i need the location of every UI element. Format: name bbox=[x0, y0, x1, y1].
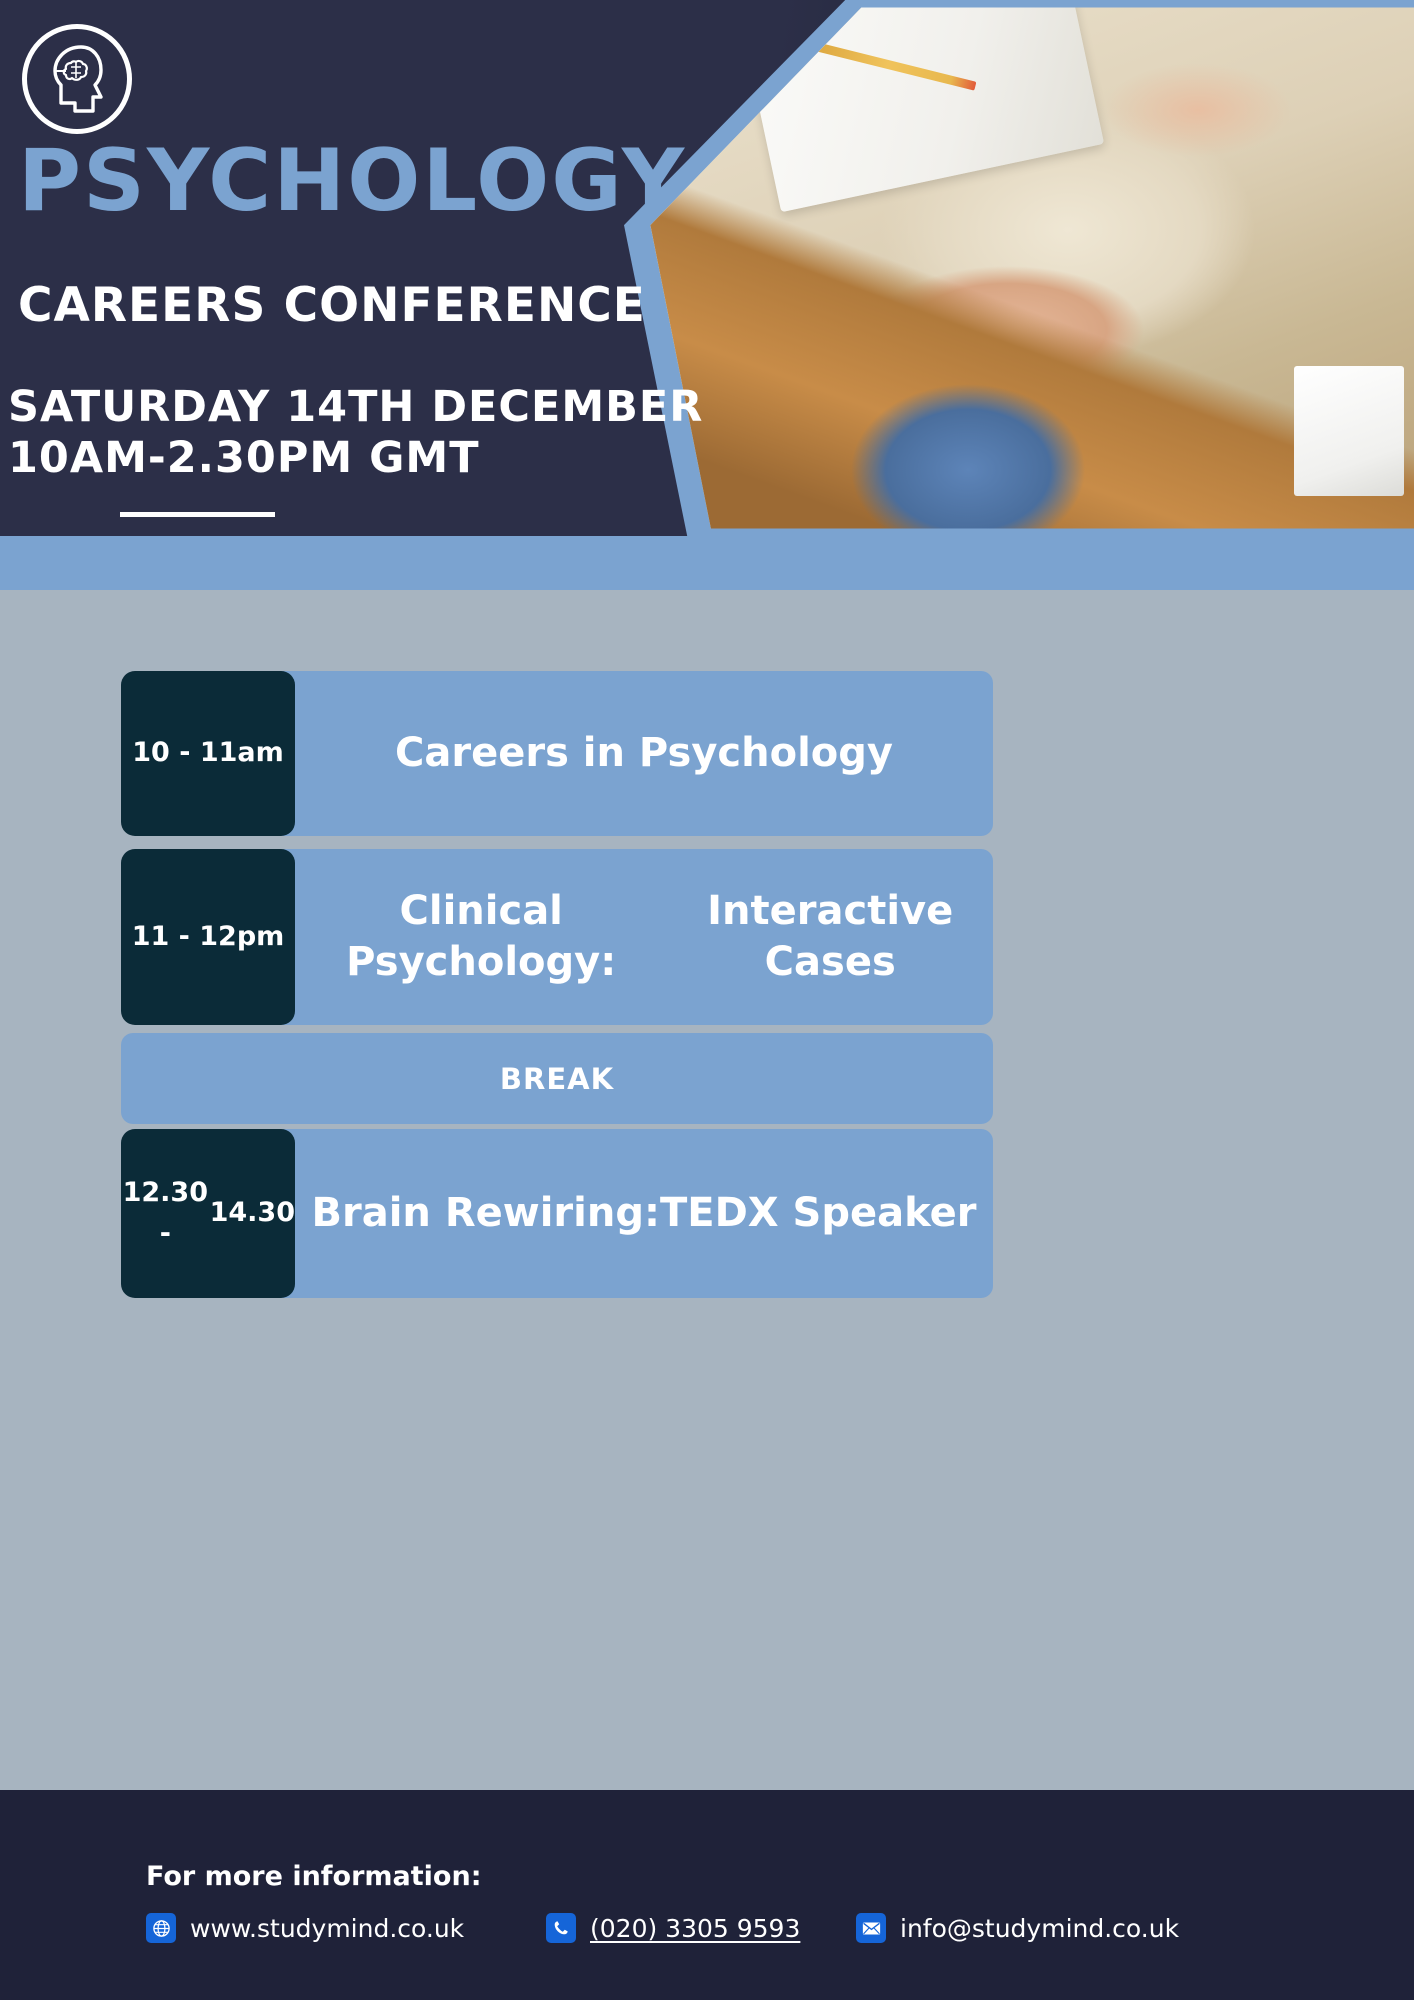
schedule-time: 10 - 11am bbox=[121, 671, 295, 836]
schedule-row: 12.30 -14.30 Brain Rewiring:TEDX Speaker bbox=[121, 1129, 993, 1298]
schedule-row: 10 - 11am Careers in Psychology bbox=[121, 671, 993, 836]
contact-website[interactable]: www.studymind.co.uk bbox=[146, 1913, 546, 1943]
schedule-time: 11 - 12pm bbox=[121, 849, 295, 1025]
envelope-icon bbox=[856, 1913, 886, 1943]
globe-icon bbox=[146, 1913, 176, 1943]
schedule-list: 10 - 11am Careers in Psychology 11 - 12p… bbox=[0, 590, 1414, 1410]
contact-email-text: info@studymind.co.uk bbox=[900, 1914, 1179, 1943]
accent-band bbox=[0, 536, 1414, 590]
schedule-title: Clinical Psychology:Interactive Cases bbox=[281, 849, 993, 1025]
schedule-time: 12.30 -14.30 bbox=[121, 1129, 295, 1298]
footer-heading: For more information: bbox=[146, 1861, 482, 1892]
poster-header: PSYCHOLOGY CAREERS CONFERENCE SATURDAY 1… bbox=[0, 0, 1414, 536]
poster: PSYCHOLOGY CAREERS CONFERENCE SATURDAY 1… bbox=[0, 0, 1414, 2000]
phone-icon bbox=[546, 1913, 576, 1943]
contact-phone-text: (020) 3305 9593 bbox=[590, 1914, 800, 1943]
hero-tissue-box bbox=[1294, 366, 1404, 496]
head-brain-icon bbox=[22, 24, 132, 134]
hero-image bbox=[638, 0, 1414, 536]
schedule-row: 11 - 12pm Clinical Psychology:Interactiv… bbox=[121, 849, 993, 1025]
poster-footer bbox=[0, 1790, 1414, 2000]
schedule-title: BREAK bbox=[500, 1062, 614, 1096]
contact-website-text: www.studymind.co.uk bbox=[190, 1914, 464, 1943]
event-time: 10AM-2.30PM GMT bbox=[8, 433, 703, 484]
event-date: SATURDAY 14TH DECEMBER bbox=[8, 382, 703, 433]
contact-phone[interactable]: (020) 3305 9593 bbox=[546, 1913, 856, 1943]
hero-notepad bbox=[742, 0, 1104, 212]
header-divider bbox=[120, 512, 275, 517]
page-title: PSYCHOLOGY bbox=[18, 138, 686, 224]
footer-contacts: www.studymind.co.uk (020) 3305 9593 info… bbox=[146, 1913, 1276, 1943]
head-brain-glyph bbox=[41, 41, 113, 117]
event-date-time: SATURDAY 14TH DECEMBER 10AM-2.30PM GMT bbox=[8, 382, 703, 483]
contact-email[interactable]: info@studymind.co.uk bbox=[856, 1913, 1179, 1943]
page-subtitle: CAREERS CONFERENCE bbox=[18, 282, 646, 329]
schedule-title: Brain Rewiring:TEDX Speaker bbox=[281, 1129, 993, 1298]
schedule-break-row: BREAK bbox=[121, 1033, 993, 1124]
schedule-title: Careers in Psychology bbox=[281, 671, 993, 836]
